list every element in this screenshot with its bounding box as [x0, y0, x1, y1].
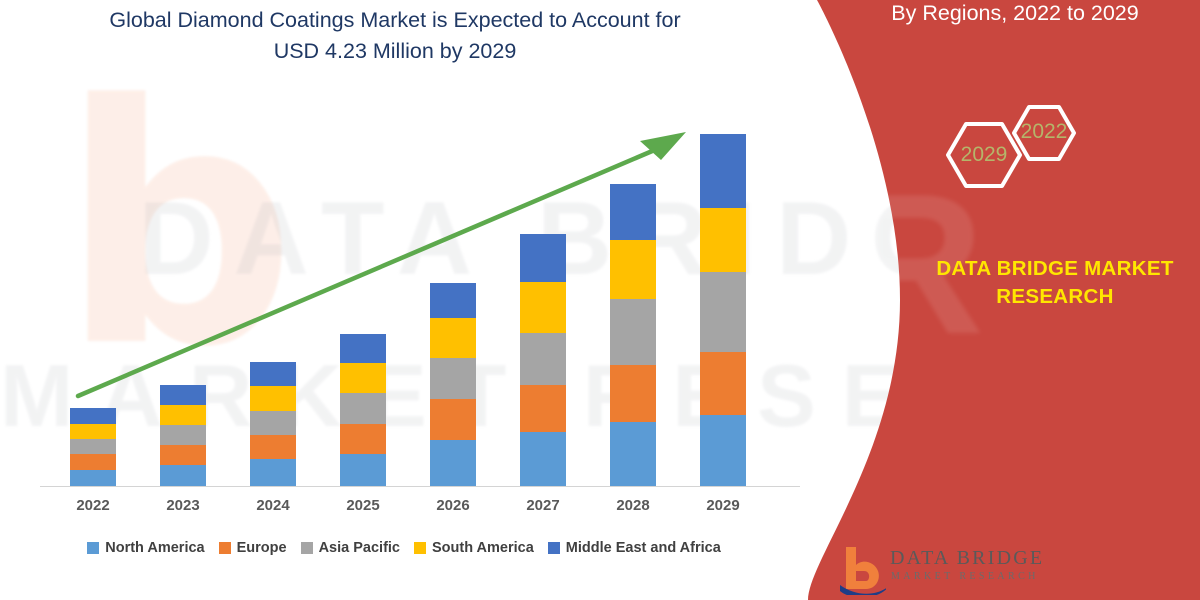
brand-name-line-2: RESEARCH — [880, 283, 1200, 311]
bar-segment[interactable] — [340, 424, 386, 454]
x-axis-label-2028: 2028 — [588, 497, 678, 514]
bar-segment[interactable] — [70, 439, 116, 454]
brand-name-line-1: DATA BRIDGE MARKET — [880, 255, 1200, 283]
legend-label: Middle East and Africa — [566, 540, 721, 556]
bar-segment[interactable] — [520, 234, 566, 282]
legend-swatch-icon — [548, 542, 560, 554]
bar-segment[interactable] — [700, 415, 746, 486]
chart-legend: North AmericaEuropeAsia PacificSouth Ame… — [0, 540, 808, 556]
bar-segment[interactable] — [250, 362, 296, 386]
x-axis-label-2029: 2029 — [678, 497, 768, 514]
x-axis-label-2024: 2024 — [228, 497, 318, 514]
bar-2022[interactable] — [70, 408, 116, 486]
brand-name: DATA BRIDGE MARKET RESEARCH — [880, 255, 1200, 311]
legend-label: Europe — [237, 540, 287, 556]
bar-segment[interactable] — [70, 408, 116, 424]
legend-swatch-icon — [219, 542, 231, 554]
bar-segment[interactable] — [250, 411, 296, 435]
bar-segment[interactable] — [70, 454, 116, 470]
bar-segment[interactable] — [160, 385, 206, 405]
bar-segment[interactable] — [250, 435, 296, 459]
legend-item-europe[interactable]: Europe — [219, 540, 287, 556]
bar-segment[interactable] — [160, 425, 206, 445]
x-axis-label-2025: 2025 — [318, 497, 408, 514]
bar-segment[interactable] — [70, 470, 116, 486]
bar-segment[interactable] — [610, 422, 656, 486]
legend-item-middle-east-and-africa[interactable]: Middle East and Africa — [548, 540, 721, 556]
company-logo: DATA BRIDGE MARKET RESEARCH — [840, 545, 1080, 600]
bar-segment[interactable] — [610, 184, 656, 240]
logo-tagline: MARKET RESEARCH — [891, 571, 1039, 582]
x-axis-label-2026: 2026 — [408, 497, 498, 514]
stacked-bar-chart: 20222023202420252026202720282029 North A… — [0, 0, 810, 600]
bar-segment[interactable] — [700, 272, 746, 352]
bar-segment[interactable] — [340, 454, 386, 486]
legend-label: Asia Pacific — [319, 540, 400, 556]
bar-segment[interactable] — [430, 440, 476, 486]
bar-segment[interactable] — [520, 282, 566, 333]
legend-item-asia-pacific[interactable]: Asia Pacific — [301, 540, 400, 556]
bar-segment[interactable] — [430, 318, 476, 358]
bar-segment[interactable] — [700, 208, 746, 272]
bar-segment[interactable] — [610, 365, 656, 422]
bar-segment[interactable] — [430, 358, 476, 399]
bar-2024[interactable] — [250, 362, 296, 486]
bar-segment[interactable] — [520, 333, 566, 385]
bar-segment[interactable] — [340, 393, 386, 424]
panel-heading: By Regions, 2022 to 2029 — [845, 0, 1185, 28]
bar-segment[interactable] — [340, 334, 386, 363]
logo-title: DATA BRIDGE — [890, 547, 1044, 570]
infographic-canvas: b DATA BRIDGE MARKET RESEARCH Global Dia… — [0, 0, 1200, 600]
legend-swatch-icon — [414, 542, 426, 554]
hexagon-label-2029: 2029 — [956, 143, 1012, 167]
x-axis-label-2023: 2023 — [138, 497, 228, 514]
logo-b-mark-icon — [840, 545, 886, 595]
bar-segment[interactable] — [160, 405, 206, 425]
bar-2026[interactable] — [430, 283, 476, 486]
bar-segment[interactable] — [610, 299, 656, 365]
legend-label: South America — [432, 540, 534, 556]
bar-segment[interactable] — [520, 432, 566, 486]
bar-segment[interactable] — [250, 386, 296, 411]
hexagon-shapes — [920, 95, 1120, 225]
bar-2027[interactable] — [520, 234, 566, 486]
bar-segment[interactable] — [520, 385, 566, 432]
bar-2025[interactable] — [340, 334, 386, 486]
bar-segment[interactable] — [160, 445, 206, 465]
bar-2028[interactable] — [610, 184, 656, 486]
legend-label: North America — [105, 540, 204, 556]
bar-segment[interactable] — [250, 459, 296, 486]
x-axis-label-2022: 2022 — [48, 497, 138, 514]
legend-swatch-icon — [87, 542, 99, 554]
bar-segment[interactable] — [700, 134, 746, 208]
legend-item-north-america[interactable]: North America — [87, 540, 204, 556]
bar-segment[interactable] — [610, 240, 656, 299]
bar-segment[interactable] — [430, 283, 476, 318]
legend-swatch-icon — [301, 542, 313, 554]
bar-segment[interactable] — [70, 424, 116, 439]
hexagon-label-2022: 2022 — [1016, 120, 1072, 144]
hexagon-group: 2029 2022 — [920, 95, 1120, 225]
bar-segment[interactable] — [700, 352, 746, 415]
x-axis-label-2027: 2027 — [498, 497, 588, 514]
bar-segment[interactable] — [340, 363, 386, 393]
chart-baseline — [40, 486, 800, 487]
bar-2029[interactable] — [700, 134, 746, 486]
bar-segment[interactable] — [430, 399, 476, 440]
legend-item-south-america[interactable]: South America — [414, 540, 534, 556]
bar-2023[interactable] — [160, 385, 206, 486]
bar-segment[interactable] — [160, 465, 206, 486]
